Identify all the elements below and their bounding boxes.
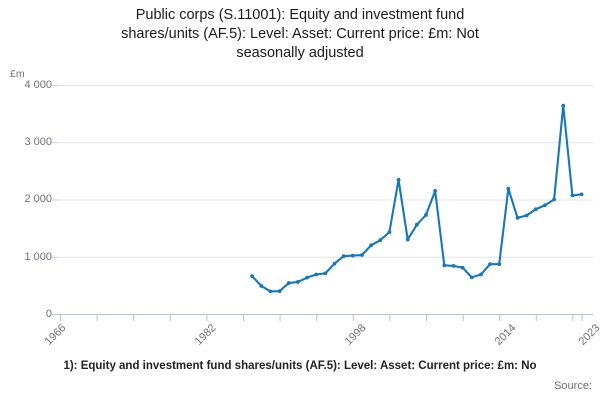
data-point xyxy=(269,289,273,293)
x-axis-ticks xyxy=(61,314,583,321)
plot-area xyxy=(0,0,600,400)
data-point xyxy=(516,216,520,220)
data-point xyxy=(552,198,556,202)
data-point xyxy=(378,238,382,242)
data-series-markers xyxy=(250,104,583,294)
data-point xyxy=(351,254,355,258)
data-point xyxy=(479,273,483,277)
data-point xyxy=(433,189,437,193)
data-point xyxy=(259,284,263,288)
data-point xyxy=(278,289,282,293)
data-series-line xyxy=(252,106,581,292)
data-point xyxy=(296,280,300,284)
data-point xyxy=(388,230,392,234)
data-point xyxy=(442,263,446,267)
data-point xyxy=(323,271,327,275)
data-point xyxy=(397,178,401,182)
data-point xyxy=(250,274,254,278)
data-point xyxy=(571,194,575,198)
data-point xyxy=(424,213,428,217)
gridlines xyxy=(58,86,593,258)
data-point xyxy=(580,192,584,196)
data-point xyxy=(461,266,465,270)
data-point xyxy=(406,238,410,242)
data-point xyxy=(369,243,373,247)
data-point xyxy=(525,214,529,218)
data-point xyxy=(543,203,547,207)
footer-source-label: Source: xyxy=(554,380,592,392)
data-point xyxy=(342,254,346,258)
data-point xyxy=(415,223,419,227)
data-point xyxy=(561,104,565,108)
chart-container: Public corps (S.11001): Equity and inves… xyxy=(0,0,600,400)
data-point xyxy=(287,281,291,285)
data-point xyxy=(305,276,309,280)
data-point xyxy=(452,264,456,268)
data-point xyxy=(534,207,538,211)
data-point xyxy=(497,262,501,266)
data-point xyxy=(333,262,337,266)
y-axis-ticks xyxy=(52,86,58,315)
data-point xyxy=(314,273,318,277)
footer-caption: 1): Equity and investment fund shares/un… xyxy=(0,360,600,372)
data-point xyxy=(506,187,510,191)
data-point xyxy=(470,275,474,279)
data-point xyxy=(360,253,364,257)
data-point xyxy=(488,262,492,266)
